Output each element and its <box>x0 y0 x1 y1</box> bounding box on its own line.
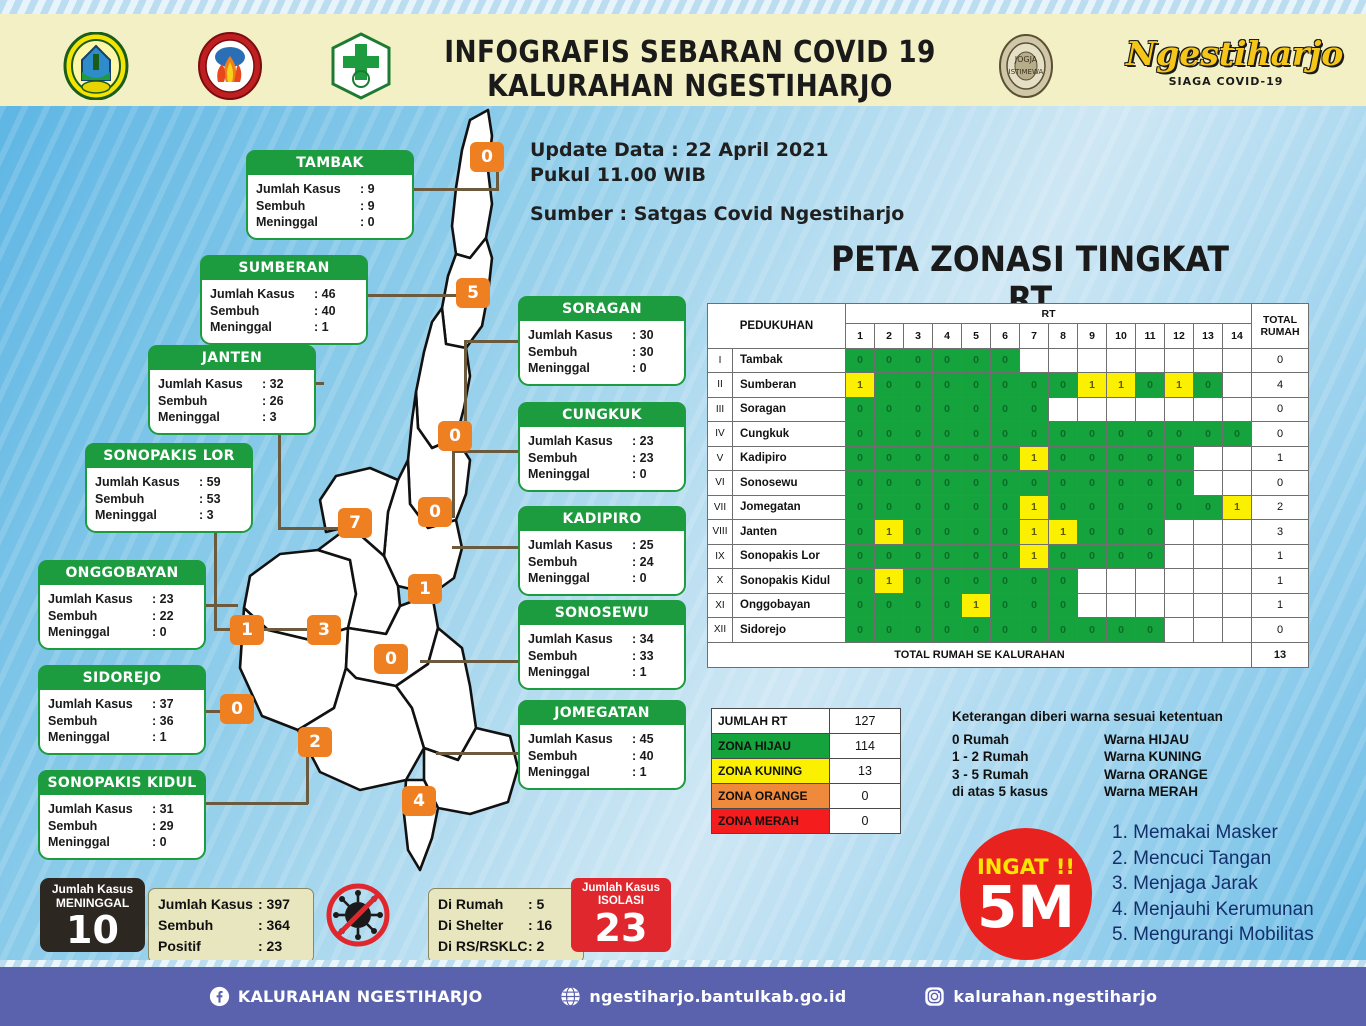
cell-rt-8: 0 <box>1049 593 1078 618</box>
card-value-kasus: : 34 <box>632 631 676 648</box>
cell-rt-11 <box>1136 348 1165 373</box>
zona-label: ZONA KUNING <box>712 759 830 784</box>
cell-rt-9: 0 <box>1078 471 1107 496</box>
card-label-sembuh: Sembuh <box>158 393 262 410</box>
logo-puskesmas <box>327 32 395 100</box>
card-value-meninggal: : 1 <box>152 729 196 746</box>
zona-value: 13 <box>830 759 901 784</box>
cell-rt-9: 0 <box>1078 544 1107 569</box>
cell-rt-8: 0 <box>1049 446 1078 471</box>
card-label-kasus: Jumlah Kasus <box>95 474 199 491</box>
connector-line <box>278 527 346 530</box>
cell-rt-6: 0 <box>991 618 1020 643</box>
cell-rt-13 <box>1194 471 1223 496</box>
card-label-meninggal: Meninggal <box>528 360 632 377</box>
table-row: IXSonopakis Lor000000100001 <box>708 544 1309 569</box>
card-value-meninggal: : 1 <box>314 319 358 336</box>
zona-value: 127 <box>830 709 901 734</box>
cell-rt-7: 1 <box>1020 544 1049 569</box>
card-title: SONOPAKIS KIDUL <box>38 770 206 795</box>
card-title: JOMEGATAN <box>518 700 686 725</box>
keterangan-row: 3 - 5 RumahWarna ORANGE <box>952 766 1223 784</box>
cell-rt-13 <box>1194 593 1223 618</box>
map-marker-sumberan[interactable]: 5 <box>456 278 490 308</box>
card-label-meninggal: Meninggal <box>528 466 632 483</box>
protocol-item: 5. Mengurangi Mobilitas <box>1112 922 1314 948</box>
cell-rt-3: 0 <box>904 593 933 618</box>
cell-rt-14 <box>1223 593 1252 618</box>
card-value-kasus: : 37 <box>152 696 196 713</box>
card-sidorejo[interactable]: SIDOREJO Jumlah Kasus: 37 Sembuh: 36 Men… <box>38 665 206 755</box>
card-title: TAMBAK <box>246 150 414 175</box>
cell-rt-9 <box>1078 569 1107 594</box>
card-value-kasus: : 46 <box>314 286 358 303</box>
card-label-kasus: Jumlah Kasus <box>528 731 632 748</box>
facebook-icon <box>209 986 230 1007</box>
cell-rt-13 <box>1194 446 1223 471</box>
card-label-meninggal: Meninggal <box>210 319 314 336</box>
cell-rt-1: 0 <box>846 348 875 373</box>
cell-rt-11: 0 <box>1136 471 1165 496</box>
iso-label: Di Rumah <box>438 894 528 915</box>
card-value-meninggal: : 0 <box>360 214 404 231</box>
cell-rt-4: 0 <box>933 495 962 520</box>
cell-rt-2: 0 <box>875 593 904 618</box>
map-marker-onggobayan[interactable]: 1 <box>230 615 264 645</box>
card-label-sembuh: Sembuh <box>528 748 632 765</box>
overall-stats-box: Jumlah Kasus: 397 Sembuh: 364 Positif: 2… <box>148 888 314 963</box>
iso-label: Di Shelter <box>438 915 528 936</box>
row-total: 1 <box>1252 593 1309 618</box>
card-sumberan[interactable]: SUMBERAN Jumlah Kasus: 46 Sembuh: 40 Men… <box>200 255 368 345</box>
zona-label: ZONA ORANGE <box>712 784 830 809</box>
map-marker-cungkuk[interactable]: 0 <box>418 497 452 527</box>
card-kadipiro[interactable]: KADIPIRO Jumlah Kasus: 25 Sembuh: 24 Men… <box>518 506 686 596</box>
cell-rt-9: 0 <box>1078 422 1107 447</box>
footer-facebook[interactable]: KALURAHAN NGESTIHARJO <box>209 986 483 1007</box>
cell-rt-12 <box>1165 618 1194 643</box>
cell-rt-11: 0 <box>1136 446 1165 471</box>
cell-rt-2: 0 <box>875 495 904 520</box>
card-value-meninggal: : 1 <box>632 764 676 781</box>
cell-rt-8: 0 <box>1049 422 1078 447</box>
svg-text:ISTIMEWA: ISTIMEWA <box>1009 68 1044 76</box>
th-rt-1: 1 <box>846 324 875 349</box>
cell-rt-8: 1 <box>1049 520 1078 545</box>
cell-rt-11: 0 <box>1136 373 1165 398</box>
cell-rt-5: 0 <box>962 544 991 569</box>
zona-row: ZONA MERAH0 <box>712 809 901 834</box>
th-rt-13: 13 <box>1194 324 1223 349</box>
keterangan-condition: 3 - 5 Rumah <box>952 766 1104 784</box>
card-value-meninggal: : 0 <box>632 570 676 587</box>
stat-label: Jumlah Kasus <box>158 894 258 915</box>
cell-rt-7: 0 <box>1020 569 1049 594</box>
card-value-kasus: : 32 <box>262 376 306 393</box>
card-label-kasus: Jumlah Kasus <box>528 631 632 648</box>
keterangan-block: Keterangan diberi warna sesuai ketentuan… <box>952 708 1223 801</box>
iso-label: Di RS/RSKLC <box>438 936 528 957</box>
cell-rt-1: 0 <box>846 422 875 447</box>
page-header: INFOGRAFIS SEBARAN COVID 19 KALURAHAN NG… <box>0 14 1366 106</box>
zona-summary-table: JUMLAH RT127ZONA HIJAU114ZONA KUNING13ZO… <box>711 708 901 834</box>
card-value-sembuh: : 22 <box>152 608 196 625</box>
row-number: XII <box>708 618 733 643</box>
protocol-item: 4. Menjauhi Kerumunan <box>1112 897 1314 923</box>
row-number: VIII <box>708 520 733 545</box>
cell-rt-5: 0 <box>962 348 991 373</box>
keterangan-title: Keterangan diberi warna sesuai ketentuan <box>952 708 1223 726</box>
card-label-kasus: Jumlah Kasus <box>528 537 632 554</box>
cell-rt-14 <box>1223 373 1252 398</box>
stat-label: Positif <box>158 936 258 957</box>
cell-rt-5: 0 <box>962 422 991 447</box>
zona-value: 114 <box>830 734 901 759</box>
cell-rt-3: 0 <box>904 520 933 545</box>
cell-rt-8: 0 <box>1049 544 1078 569</box>
card-janten[interactable]: JANTEN Jumlah Kasus: 32 Sembuh: 26 Menin… <box>148 345 316 435</box>
cell-rt-11: 0 <box>1136 618 1165 643</box>
card-onggobayan[interactable]: ONGGOBAYAN Jumlah Kasus: 23 Sembuh: 22 M… <box>38 560 206 650</box>
zona-row: ZONA ORANGE0 <box>712 784 901 809</box>
cell-rt-3: 0 <box>904 348 933 373</box>
cell-rt-1: 0 <box>846 495 875 520</box>
th-rt-8: 8 <box>1049 324 1078 349</box>
keterangan-color-name: Warna KUNING <box>1104 748 1202 766</box>
row-pedukuhan-name: Kadipiro <box>733 446 846 471</box>
cell-rt-1: 0 <box>846 471 875 496</box>
keterangan-color-name: Warna MERAH <box>1104 783 1198 801</box>
protocol-item: 2. Mencuci Tangan <box>1112 846 1314 872</box>
cell-rt-13: 0 <box>1194 495 1223 520</box>
row-pedukuhan-name: Sidorejo <box>733 618 846 643</box>
zoning-table: PEDUKUHAN RT TOTAL RUMAH 123456789101112… <box>707 303 1309 668</box>
card-title: SIDOREJO <box>38 665 206 690</box>
card-tambak[interactable]: TAMBAK Jumlah Kasus: 9 Sembuh: 9 Meningg… <box>246 150 414 240</box>
card-value-sembuh: : 29 <box>152 818 196 835</box>
cell-rt-9: 0 <box>1078 520 1107 545</box>
cell-rt-14 <box>1223 471 1252 496</box>
top-decorative-strip <box>0 0 1366 14</box>
row-total: 1 <box>1252 569 1309 594</box>
cell-rt-12 <box>1165 544 1194 569</box>
row-total: 0 <box>1252 422 1309 447</box>
row-number: V <box>708 446 733 471</box>
cell-rt-4: 0 <box>933 446 962 471</box>
card-title: SONOPAKIS LOR <box>85 443 253 468</box>
cell-rt-3: 0 <box>904 422 933 447</box>
row-total: 4 <box>1252 373 1309 398</box>
map-marker-janten[interactable]: 7 <box>338 508 372 538</box>
cell-rt-2: 0 <box>875 446 904 471</box>
cell-rt-2: 0 <box>875 471 904 496</box>
th-rt-5: 5 <box>962 324 991 349</box>
cell-rt-10 <box>1107 593 1136 618</box>
card-value-meninggal: : 0 <box>632 466 676 483</box>
th-rt-7: 7 <box>1020 324 1049 349</box>
logo-bantul <box>62 32 130 100</box>
cell-rt-14 <box>1223 397 1252 422</box>
card-value-sembuh: : 24 <box>632 554 676 571</box>
cell-rt-10 <box>1107 397 1136 422</box>
protocol-item: 1. Memakai Masker <box>1112 820 1314 846</box>
update-date: Update Data : 22 April 2021 <box>530 138 904 163</box>
card-label-kasus: Jumlah Kasus <box>48 591 152 608</box>
stat-value: : 23 <box>258 936 304 957</box>
map-marker-sonosewu[interactable]: 0 <box>374 644 408 674</box>
card-value-kasus: : 23 <box>152 591 196 608</box>
zona-label: ZONA MERAH <box>712 809 830 834</box>
card-label-meninggal: Meninggal <box>256 214 360 231</box>
cell-rt-1: 0 <box>846 618 875 643</box>
connector-line <box>452 450 455 518</box>
keterangan-row: 0 RumahWarna HIJAU <box>952 731 1223 749</box>
cell-rt-2: 0 <box>875 544 904 569</box>
cell-rt-3: 0 <box>904 569 933 594</box>
cell-rt-3: 0 <box>904 544 933 569</box>
row-number: IX <box>708 544 733 569</box>
row-total: 1 <box>1252 446 1309 471</box>
connector-line <box>452 546 524 549</box>
cell-rt-5: 0 <box>962 471 991 496</box>
cell-rt-6: 0 <box>991 544 1020 569</box>
card-value-sembuh: : 40 <box>314 303 358 320</box>
cell-rt-6: 0 <box>991 397 1020 422</box>
cell-rt-3: 0 <box>904 397 933 422</box>
cell-rt-12 <box>1165 397 1194 422</box>
page-title-line1: INFOGRAFIS SEBARAN COVID 19 <box>417 36 963 70</box>
stat-value: : 397 <box>258 894 304 915</box>
table-footer-total: 13 <box>1252 642 1309 667</box>
cell-rt-4: 0 <box>933 422 962 447</box>
card-label-kasus: Jumlah Kasus <box>48 801 152 818</box>
connector-line <box>464 340 522 343</box>
page-title: INFOGRAFIS SEBARAN COVID 19 KALURAHAN NG… <box>417 36 963 104</box>
row-total: 0 <box>1252 397 1309 422</box>
cell-rt-10: 0 <box>1107 520 1136 545</box>
cell-rt-9: 0 <box>1078 618 1107 643</box>
card-label-kasus: Jumlah Kasus <box>48 696 152 713</box>
row-total: 2 <box>1252 495 1309 520</box>
row-total: 3 <box>1252 520 1309 545</box>
cell-rt-3: 0 <box>904 471 933 496</box>
cell-rt-7: 1 <box>1020 520 1049 545</box>
card-title: KADIPIRO <box>518 506 686 531</box>
card-value-sembuh: : 53 <box>199 491 243 508</box>
zona-label: ZONA HIJAU <box>712 734 830 759</box>
cell-rt-5: 0 <box>962 618 991 643</box>
row-number: II <box>708 373 733 398</box>
cell-rt-10: 0 <box>1107 618 1136 643</box>
cell-rt-13 <box>1194 397 1223 422</box>
cell-rt-6: 0 <box>991 348 1020 373</box>
map-marker-soragan[interactable]: 0 <box>438 421 472 451</box>
row-total: 0 <box>1252 348 1309 373</box>
cell-rt-5: 0 <box>962 397 991 422</box>
card-value-kasus: : 23 <box>632 433 676 450</box>
cell-rt-13 <box>1194 348 1223 373</box>
row-pedukuhan-name: Tambak <box>733 348 846 373</box>
cell-rt-5: 0 <box>962 373 991 398</box>
stat-value: : 364 <box>258 915 304 936</box>
iso-badge-label-1: Jumlah Kasus <box>582 882 660 894</box>
cell-rt-4: 0 <box>933 593 962 618</box>
keterangan-color-name: Warna HIJAU <box>1104 731 1189 749</box>
map-marker-sidorejo[interactable]: 0 <box>220 694 254 724</box>
virus-prohibited-icon <box>325 882 391 953</box>
ingat-5m-badge: INGAT !! 5M <box>960 828 1092 960</box>
card-label-meninggal: Meninggal <box>48 624 152 641</box>
cell-rt-10: 0 <box>1107 446 1136 471</box>
cell-rt-14 <box>1223 618 1252 643</box>
stat-label: Sembuh <box>158 915 258 936</box>
row-pedukuhan-name: Sonopakis Kidul <box>733 569 846 594</box>
ingat-5m-text: 5M <box>977 878 1075 936</box>
cell-rt-13 <box>1194 569 1223 594</box>
map-marker-sonopakis-kidul[interactable]: 2 <box>298 727 332 757</box>
map-marker-tambak[interactable]: 0 <box>470 142 504 172</box>
logo-damkar <box>196 32 264 100</box>
row-number: VI <box>708 471 733 496</box>
card-label-sembuh: Sembuh <box>48 608 152 625</box>
table-row: ITambak0000000 <box>708 348 1309 373</box>
cell-rt-10: 1 <box>1107 373 1136 398</box>
card-label-kasus: Jumlah Kasus <box>158 376 262 393</box>
cell-rt-7: 0 <box>1020 373 1049 398</box>
table-row: VIIIJanten010000110003 <box>708 520 1309 545</box>
row-number: I <box>708 348 733 373</box>
cell-rt-9: 0 <box>1078 495 1107 520</box>
card-label-sembuh: Sembuh <box>48 818 152 835</box>
card-value-sembuh: : 9 <box>360 198 404 215</box>
card-label-kasus: Jumlah Kasus <box>528 433 632 450</box>
cell-rt-2: 1 <box>875 520 904 545</box>
card-label-sembuh: Sembuh <box>528 554 632 571</box>
zona-row: JUMLAH RT127 <box>712 709 901 734</box>
row-total: 1 <box>1252 544 1309 569</box>
map-marker-sonopakis-lor[interactable]: 3 <box>307 615 341 645</box>
cell-rt-9: 1 <box>1078 373 1107 398</box>
cell-rt-11: 0 <box>1136 544 1165 569</box>
cell-rt-3: 0 <box>904 618 933 643</box>
th-rt-14: 14 <box>1223 324 1252 349</box>
card-value-kasus: : 9 <box>360 181 404 198</box>
card-value-kasus: : 30 <box>632 327 676 344</box>
card-value-kasus: : 59 <box>199 474 243 491</box>
cell-rt-1: 0 <box>846 446 875 471</box>
row-pedukuhan-name: Sumberan <box>733 373 846 398</box>
cell-rt-1: 0 <box>846 593 875 618</box>
cell-rt-5: 1 <box>962 593 991 618</box>
footer-instagram[interactable]: kalurahan.ngestiharjo <box>924 986 1157 1007</box>
card-label-sembuh: Sembuh <box>48 713 152 730</box>
cell-rt-7: 0 <box>1020 593 1049 618</box>
row-pedukuhan-name: Janten <box>733 520 846 545</box>
card-sonopakis-kidul[interactable]: SONOPAKIS KIDUL Jumlah Kasus: 31 Sembuh:… <box>38 770 206 860</box>
th-rt-10: 10 <box>1107 324 1136 349</box>
cell-rt-9 <box>1078 397 1107 422</box>
th-rt-group: RT <box>846 304 1252 324</box>
zona-value: 0 <box>830 809 901 834</box>
footer-website[interactable]: ngestiharjo.bantulkab.go.id <box>560 986 846 1007</box>
card-value-meninggal: : 0 <box>632 360 676 377</box>
table-row: IVCungkuk000000000000000 <box>708 422 1309 447</box>
card-value-meninggal: : 0 <box>152 624 196 641</box>
cell-rt-2: 0 <box>875 397 904 422</box>
card-label-meninggal: Meninggal <box>48 729 152 746</box>
card-sonopakis-lor[interactable]: SONOPAKIS LOR Jumlah Kasus: 59 Sembuh: 5… <box>85 443 253 533</box>
deaths-value: 10 <box>40 910 145 950</box>
card-jomegatan[interactable]: JOMEGATAN Jumlah Kasus: 45 Sembuh: 40 Me… <box>518 700 686 790</box>
card-value-sembuh: : 23 <box>632 450 676 467</box>
map-marker-jomegatan[interactable]: 4 <box>402 786 436 816</box>
card-label-sembuh: Sembuh <box>528 344 632 361</box>
cell-rt-4: 0 <box>933 348 962 373</box>
cell-rt-13: 0 <box>1194 422 1223 447</box>
cell-rt-9 <box>1078 593 1107 618</box>
cell-rt-13 <box>1194 544 1223 569</box>
th-rt-11: 11 <box>1136 324 1165 349</box>
card-title: JANTEN <box>148 345 316 370</box>
iso-value: : 2 <box>528 936 574 957</box>
cell-rt-10: 0 <box>1107 422 1136 447</box>
card-value-kasus: : 45 <box>632 731 676 748</box>
card-label-sembuh: Sembuh <box>210 303 314 320</box>
card-value-meninggal: : 3 <box>262 409 306 426</box>
cell-rt-6: 0 <box>991 422 1020 447</box>
th-rt-2: 2 <box>875 324 904 349</box>
cell-rt-13 <box>1194 520 1223 545</box>
cell-rt-2: 1 <box>875 569 904 594</box>
map-marker-kadipiro[interactable]: 1 <box>408 574 442 604</box>
card-label-meninggal: Meninggal <box>48 834 152 851</box>
row-pedukuhan-name: Jomegatan <box>733 495 846 520</box>
protocol-list: 1. Memakai Masker 2. Mencuci Tangan 3. M… <box>1112 820 1314 948</box>
keterangan-row: 1 - 2 RumahWarna KUNING <box>952 748 1223 766</box>
cell-rt-11: 0 <box>1136 422 1165 447</box>
cell-rt-14: 0 <box>1223 422 1252 447</box>
card-value-sembuh: : 30 <box>632 344 676 361</box>
card-value-kasus: : 31 <box>152 801 196 818</box>
card-cungkuk[interactable]: CUNGKUK Jumlah Kasus: 23 Sembuh: 23 Meni… <box>518 402 686 492</box>
cell-rt-12: 0 <box>1165 422 1194 447</box>
cell-rt-6: 0 <box>991 495 1020 520</box>
cell-rt-14 <box>1223 544 1252 569</box>
cell-rt-8: 0 <box>1049 495 1078 520</box>
iso-badge-value: 23 <box>571 908 671 948</box>
cell-rt-11: 0 <box>1136 495 1165 520</box>
cell-rt-7: 0 <box>1020 471 1049 496</box>
row-number: IV <box>708 422 733 447</box>
cell-rt-1: 0 <box>846 520 875 545</box>
row-number: III <box>708 397 733 422</box>
iso-value: : 16 <box>528 915 574 936</box>
cell-rt-14 <box>1223 520 1252 545</box>
card-label-meninggal: Meninggal <box>528 570 632 587</box>
cell-rt-8: 0 <box>1049 618 1078 643</box>
cell-rt-11 <box>1136 397 1165 422</box>
table-row: IISumberan10000000110104 <box>708 373 1309 398</box>
card-label-meninggal: Meninggal <box>95 507 199 524</box>
card-title: SONOSEWU <box>518 600 686 625</box>
cell-rt-12 <box>1165 520 1194 545</box>
cell-rt-5: 0 <box>962 495 991 520</box>
zona-value: 0 <box>830 784 901 809</box>
row-pedukuhan-name: Soragan <box>733 397 846 422</box>
card-sonosewu[interactable]: SONOSEWU Jumlah Kasus: 34 Sembuh: 33 Men… <box>518 600 686 690</box>
card-soragan[interactable]: SORAGAN Jumlah Kasus: 30 Sembuh: 30 Meni… <box>518 296 686 386</box>
cell-rt-10 <box>1107 348 1136 373</box>
